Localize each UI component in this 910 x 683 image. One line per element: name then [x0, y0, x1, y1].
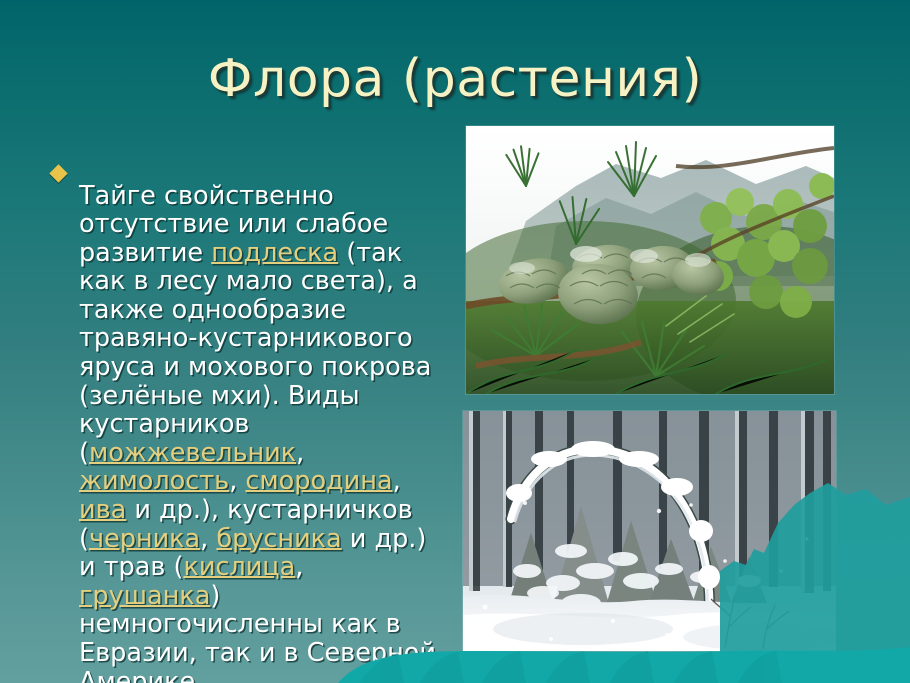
hyperlink-кислица[interactable]: кислица — [183, 552, 295, 582]
hyperlink-можжевельник[interactable]: можжевельник — [89, 438, 296, 468]
text-run: , — [200, 524, 216, 554]
hyperlink-подлеска[interactable]: подлеска — [211, 238, 338, 268]
presentation-slide: Флора (растения) Тайге свойственно отсут… — [0, 0, 910, 683]
photo-winter-artwork — [463, 411, 836, 651]
hyperlink-жимолость[interactable]: жимолость — [79, 466, 229, 496]
text-run: , — [296, 438, 304, 468]
bullet-list-item: Тайге свойственно отсутствие или слабое … — [52, 156, 442, 683]
photo-winter-taiga — [463, 411, 836, 651]
paragraph-text: Тайге свойственно отсутствие или слабое … — [79, 182, 442, 683]
hyperlink-смородина[interactable]: смородина — [245, 466, 392, 496]
diamond-bullet-icon — [49, 164, 67, 182]
body-text-block: Тайге свойственно отсутствие или слабое … — [52, 156, 442, 683]
hyperlink-грушанка[interactable]: грушанка — [79, 581, 210, 611]
slide-title: Флора (растения) — [0, 52, 910, 107]
text-run: , — [295, 552, 303, 582]
hyperlink-брусника[interactable]: брусника — [216, 524, 341, 554]
text-run: (так как в лесу мало света), а также одн… — [79, 238, 431, 468]
text-run: , — [229, 466, 245, 496]
photo-summer-artwork — [466, 126, 834, 394]
text-run: , — [393, 466, 401, 496]
hyperlink-черника[interactable]: черника — [89, 524, 200, 554]
hyperlink-ива[interactable]: ива — [79, 495, 126, 525]
photo-summer-pine-cones — [466, 126, 834, 394]
